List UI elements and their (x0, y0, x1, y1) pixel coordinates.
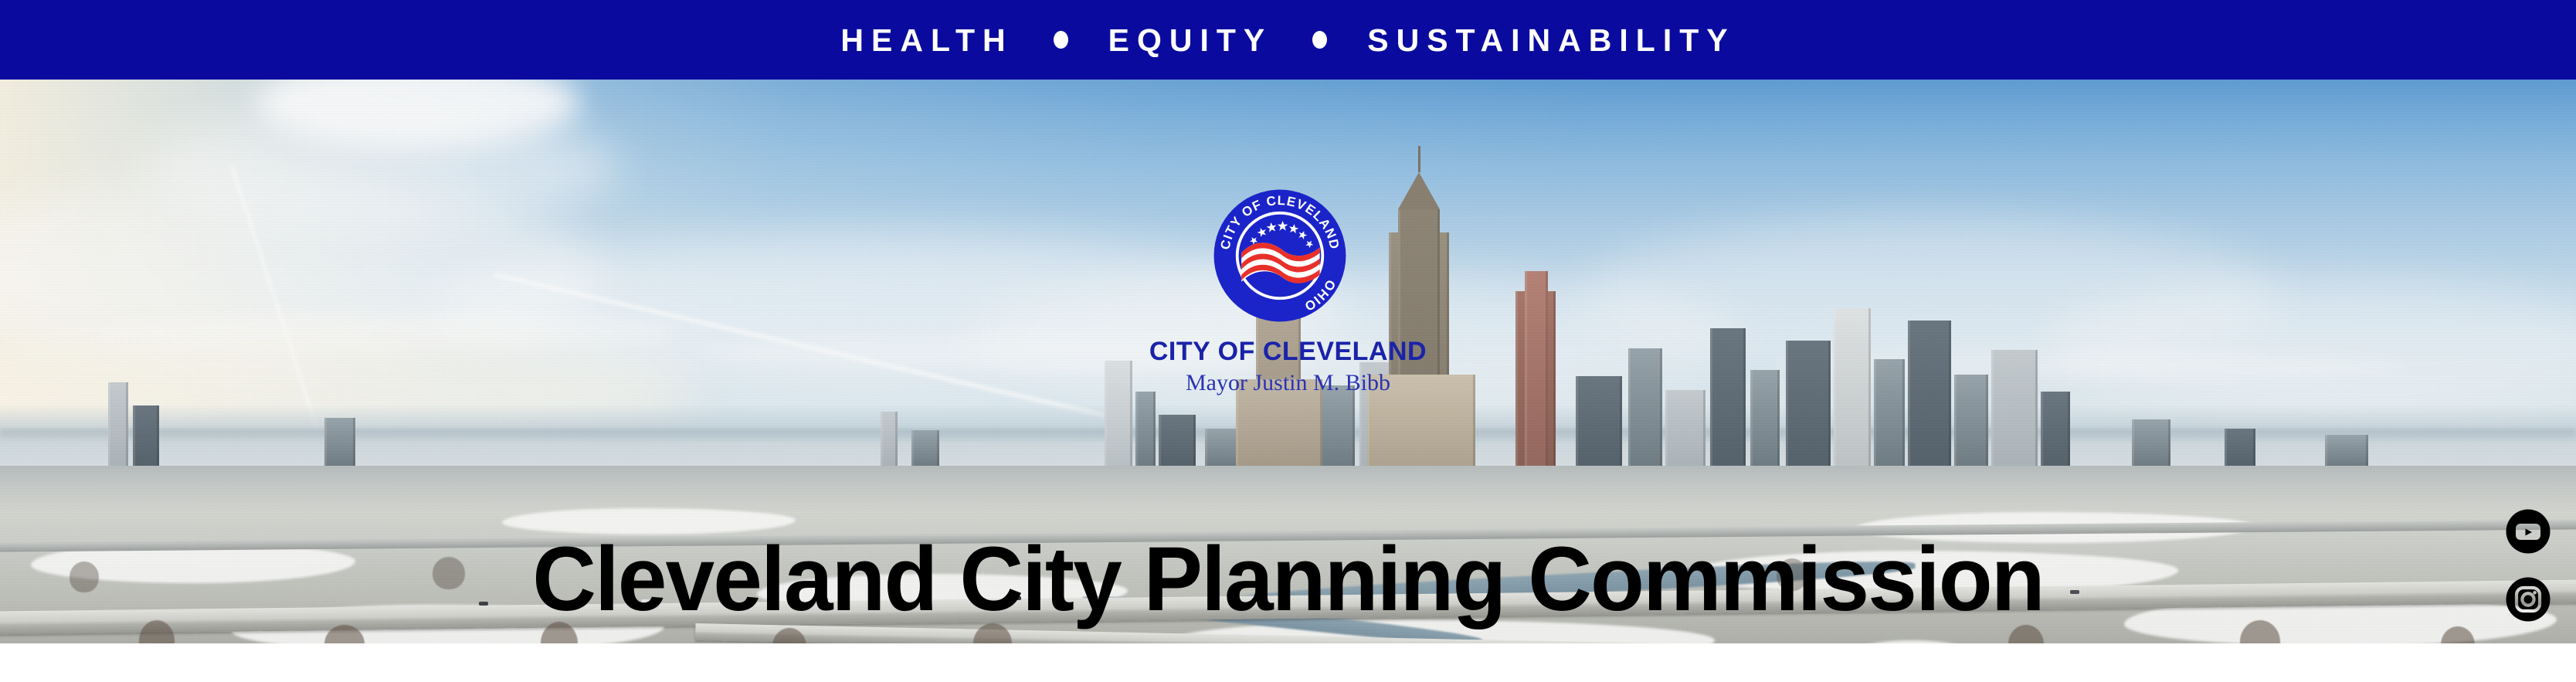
tagline-word-equity: EQUITY (1108, 23, 1273, 56)
building (1135, 392, 1156, 466)
page-title: Cleveland City Planning Commission (39, 534, 2537, 625)
key-tower-mast (1418, 146, 1420, 172)
building (2225, 429, 2255, 466)
logo-text-block: CITY OF CLEVELAND Mayor Justin M. Bibb (0, 338, 2576, 397)
youtube-icon[interactable] (2506, 509, 2551, 554)
building (2041, 392, 2070, 466)
page-root: HEALTH EQUITY SUSTAINABILITY (0, 0, 2576, 682)
tagline-banner: HEALTH EQUITY SUSTAINABILITY (0, 0, 2576, 80)
key-tower-pyramid (1398, 172, 1440, 209)
city-of-cleveland-seal-icon: CITY OF CLEVELAND OHIO (1211, 187, 1349, 324)
mayor-name-label: Mayor Justin M. Bibb (0, 368, 2576, 398)
instagram-icon[interactable] (2506, 577, 2551, 622)
social-link-youtube[interactable] (2506, 509, 2551, 554)
tagline-bullet-dot-2 (1312, 31, 1327, 49)
building (324, 418, 355, 466)
tagline-bullet-dot-1 (1054, 31, 1068, 49)
city-name-label: CITY OF CLEVELAND (0, 338, 2576, 366)
building (881, 412, 898, 466)
hero-banner-photo: CITY OF CLEVELAND OHIO CITY OF CLEVELAND… (0, 80, 2576, 643)
city-seal-logo: CITY OF CLEVELAND OHIO (1211, 187, 1349, 334)
building (133, 405, 159, 466)
building (2132, 419, 2170, 466)
social-links (2506, 509, 2554, 643)
social-link-instagram[interactable] (2506, 577, 2551, 622)
building (2325, 435, 2368, 466)
building (911, 430, 939, 466)
tagline-text-group: HEALTH EQUITY SUSTAINABILITY (840, 23, 1735, 56)
tagline-word-sustainability: SUSTAINABILITY (1367, 23, 1735, 56)
building (1665, 390, 1705, 466)
tagline-word-health: HEALTH (840, 23, 1013, 56)
building (1159, 415, 1196, 466)
